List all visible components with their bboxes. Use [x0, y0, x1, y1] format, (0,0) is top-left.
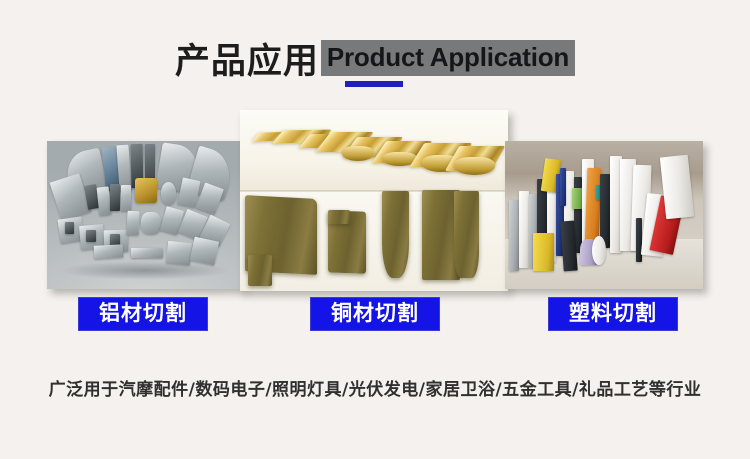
application-industries-caption: 广泛用于汽摩配件/数码电子/照明灯具/光伏发电/家居卫浴/五金工具/礼品工艺等行… — [0, 375, 750, 400]
chip-plastic-label: 塑料切割 — [569, 303, 657, 324]
panel-aluminium-photo — [47, 141, 243, 289]
chip-aluminium-label: 铝材切割 — [99, 303, 187, 324]
chip-copper-label: 铜材切割 — [331, 303, 419, 324]
chip-plastic-cutting[interactable]: 塑料切割 — [548, 297, 678, 331]
panel-copper-photo — [240, 110, 508, 291]
product-application-banner: 产品应用Product Application — [0, 0, 750, 459]
chip-aluminium-cutting[interactable]: 铝材切割 — [78, 297, 208, 331]
page-title: 产品应用Product Application — [0, 33, 750, 84]
page-title-english: Product Application — [321, 40, 575, 76]
page-title-chinese: 产品应用 — [175, 42, 319, 82]
aluminium-photo-shadow — [59, 261, 232, 280]
chip-copper-cutting[interactable]: 铜材切割 — [310, 297, 440, 331]
panel-plastic-photo — [505, 141, 703, 289]
title-underline-rule — [345, 81, 403, 87]
